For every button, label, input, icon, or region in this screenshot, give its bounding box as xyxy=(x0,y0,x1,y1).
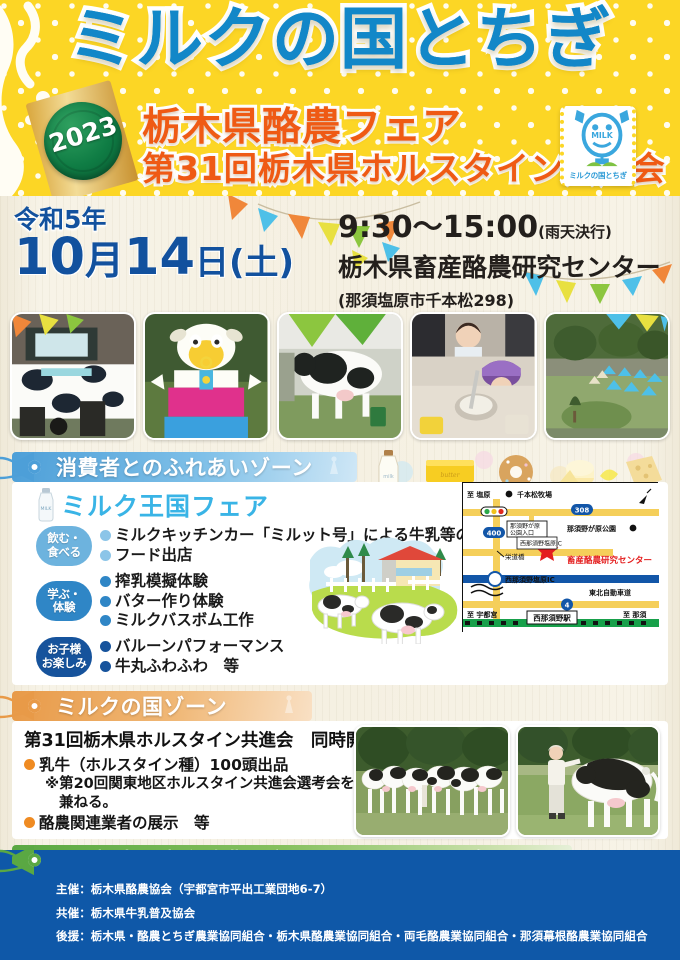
event-month-unit: 月 xyxy=(85,239,124,284)
year-seal-badge: 2023 xyxy=(34,96,130,190)
windmill-icon xyxy=(321,454,347,480)
milk-zone-item-text: 酪農関連業者の展示 等 xyxy=(39,813,210,833)
milk-zone-panel: ミルクの国ゾーン 第31回栃木県ホルスタイン共進会 同時開催 乳牛（ホルスタイン… xyxy=(12,691,668,840)
svg-text:西那須野塩原IC: 西那須野塩原IC xyxy=(505,575,555,584)
svg-text:那須野が原: 那須野が原 xyxy=(510,522,540,530)
milk-zone-item-note: ※第20回関東地区ホルスタイン共進会選考会を xyxy=(45,775,355,794)
butter-making-kids-photo xyxy=(410,312,536,440)
consumer-zone-item-text: バルーンパフォーマンス xyxy=(115,637,284,657)
event-time-row: 9:30〜15:00(雨天決行) xyxy=(338,202,660,246)
event-date-large: 10月14日(土) xyxy=(14,234,294,282)
milk-kingdom-fair-title: ミルク王国フェア xyxy=(61,487,269,523)
location-map: 400 308 4 至 塩原 xyxy=(462,482,658,632)
milk-zone-band: ミルクの国ゾーン xyxy=(12,691,312,721)
consumer-zone-category-badge: 飲む・食べる xyxy=(36,526,92,566)
bullet-icon xyxy=(100,661,111,672)
svg-text:4: 4 xyxy=(565,602,570,610)
route-badge-4: 4 xyxy=(561,599,573,611)
bullet-orange-icon xyxy=(24,817,35,828)
cow-mascot-balloon-photo xyxy=(143,312,269,440)
footer-coorganizer: 共催：栃木県牛乳普及協会 xyxy=(56,902,680,926)
footer-organizer: 主催：栃木県酪農協会（宇都宮市平出工業団地6-7） xyxy=(56,878,680,902)
milking-model-cow-photo xyxy=(277,312,403,440)
svg-text:MILK: MILK xyxy=(591,131,614,140)
bullet-icon xyxy=(100,530,111,541)
bullet-orange-icon xyxy=(24,759,35,770)
route-badge-400: 400 xyxy=(483,527,505,538)
svg-text:東北自動車道: 東北自動車道 xyxy=(589,588,631,597)
consumer-zone-item-list: 搾乳模擬体験バター作り体験ミルクバスボム工作 xyxy=(100,572,254,631)
bullet-icon xyxy=(100,596,111,607)
category-badge-line: 体験 xyxy=(53,601,75,615)
poster-main-title: ミルクの国とちぎ xyxy=(0,6,680,73)
consumer-zone-item: バルーンパフォーマンス xyxy=(100,637,284,657)
consumer-zone-item: 牛丸ふわふわ 等 xyxy=(100,657,284,677)
farm-pasture-illustration xyxy=(298,534,470,644)
bullet-icon xyxy=(100,576,111,587)
category-badge-line: お子様 xyxy=(47,643,81,657)
milk-zone-item-text: 乳牛（ホルスタイン種）100頭出品 xyxy=(39,755,355,775)
poster-root: ミルクの国とちぎ ミルクの国とちぎ 2023 栃木県酪農フェア 第31回栃木県ホ… xyxy=(0,0,680,960)
consumer-zone-category-badge: 学ぶ・体験 xyxy=(36,581,92,621)
event-weekday: (土) xyxy=(229,243,294,283)
venue-map-label: 畜産酪農研究センター xyxy=(567,555,652,566)
milk-bottle-small-icon: MILK xyxy=(36,488,56,522)
consumer-zone-item-text: 牛丸ふわふわ 等 xyxy=(115,657,239,677)
tag-eyelet-icon xyxy=(28,699,41,712)
event-time: 9:30〜15:00 xyxy=(338,210,538,245)
svg-text:308: 308 xyxy=(575,507,590,515)
milk-zone-band-title: ミルクの国ゾーン xyxy=(56,691,227,721)
category-badge-line: 食べる xyxy=(47,546,81,560)
consumer-zone-item-text: フード出店 xyxy=(115,546,193,566)
brand-logo-label: ミルクの国とちぎ xyxy=(564,170,632,181)
svg-text:milk: milk xyxy=(383,474,394,480)
event-time-venue-block: 9:30〜15:00(雨天決行) 栃木県畜産酪農研究センター (那須塩原市千本松… xyxy=(338,202,660,311)
milk-kitchen-car-photo xyxy=(10,312,136,440)
brand-logo-badge: MILK ミルクの国とちぎ xyxy=(560,106,636,186)
event-day: 14 xyxy=(124,228,195,287)
bullet-icon xyxy=(100,615,111,626)
consumer-zone-item: バター作り体験 xyxy=(100,592,254,612)
bullet-icon xyxy=(100,641,111,652)
consumer-zone-band-title: 消費者とのふれあいゾーン xyxy=(56,452,313,482)
consumer-zone-item-list: バルーンパフォーマンス牛丸ふわふわ 等 xyxy=(100,637,284,676)
svg-text:公園入口: 公園入口 xyxy=(510,530,534,537)
svg-text:西那須野塩原IC: 西那須野塩原IC xyxy=(520,540,562,548)
consumer-zone-panel: 消費者とのふれあいゾーン milk butter xyxy=(12,452,668,685)
consumer-zone-item-text: 搾乳模擬体験 xyxy=(115,572,208,592)
consumer-zone-item-text: ミルクバスボム工作 xyxy=(115,611,254,631)
photo-strip xyxy=(0,308,680,448)
consumer-zone-body: 400 308 4 至 塩原 xyxy=(12,482,668,685)
event-venue: 栃木県畜産酪農研究センター xyxy=(338,248,660,284)
poster-header: ミルクの国とちぎ ミルクの国とちぎ 2023 栃木県酪農フェア 第31回栃木県ホ… xyxy=(0,0,680,196)
consumer-zone-item-text: バター作り体験 xyxy=(115,592,224,612)
milk-character-logo-icon: MILK xyxy=(564,106,640,172)
consumer-zone-category-badge: お子様お楽しみ xyxy=(36,637,92,677)
milk-zone-photos xyxy=(354,725,660,837)
milk-zone-item-note: 兼ねる。 xyxy=(59,794,355,813)
consumer-zone-item: 搾乳模擬体験 xyxy=(100,572,254,592)
lemon-wedge-icon xyxy=(600,469,618,480)
consumer-zone-item: ミルクバスボム工作 xyxy=(100,611,254,631)
event-rain-note: (雨天決行) xyxy=(538,223,612,241)
event-month: 10 xyxy=(14,228,85,287)
tag-eyelet-icon xyxy=(28,461,41,474)
svg-text:MILK: MILK xyxy=(41,506,53,512)
svg-text:那須野が原公園: 那須野が原公園 xyxy=(567,524,616,533)
windmill-icon xyxy=(276,693,302,719)
date-venue-band: 令和5年 10月14日(土) 9:30〜15:00(雨天決行) 栃木県畜産酪農研… xyxy=(0,196,680,308)
svg-text:至 那須: 至 那須 xyxy=(623,610,647,619)
bullet-icon xyxy=(100,550,111,561)
event-date-block: 令和5年 10月14日(土) xyxy=(14,200,294,282)
poster-footer: 主催：栃木県酪農協会（宇都宮市平出工業団地6-7） 共催：栃木県牛乳普及協会 後… xyxy=(0,850,680,960)
svg-text:至 宇都宮: 至 宇都宮 xyxy=(467,610,497,619)
svg-text:400: 400 xyxy=(487,530,502,538)
consumer-zone-band: 消費者とのふれあいゾーン xyxy=(12,452,357,482)
holstein-lineup-photo xyxy=(354,725,510,837)
footer-supporters: 後援：栃木県・酪農とちぎ農業協同組合・栃木県酪農業協同組合・両毛酪農業協同組合・… xyxy=(56,925,680,949)
category-badge-line: お楽しみ xyxy=(42,657,87,671)
svg-text:至 塩原: 至 塩原 xyxy=(467,490,490,499)
svg-text:西那須野駅: 西那須野駅 xyxy=(533,613,571,623)
milk-zone-body: 第31回栃木県ホルスタイン共進会 同時開催 乳牛（ホルスタイン種）100頭出品※… xyxy=(12,721,668,840)
svg-text:butter: butter xyxy=(441,472,461,479)
event-day-unit: 日 xyxy=(195,243,229,283)
svg-text:栄道橋: 栄道橋 xyxy=(505,552,525,561)
tag-eyelet-icon xyxy=(28,854,41,867)
route-badge-308: 308 xyxy=(571,504,593,515)
butter-block-icon: butter xyxy=(426,460,474,482)
svg-text:千本松牧場: 千本松牧場 xyxy=(517,490,552,499)
venue-aerial-tents-photo xyxy=(544,312,670,440)
holstein-handler-photo xyxy=(516,725,660,837)
category-badge-line: 飲む・ xyxy=(47,532,81,546)
